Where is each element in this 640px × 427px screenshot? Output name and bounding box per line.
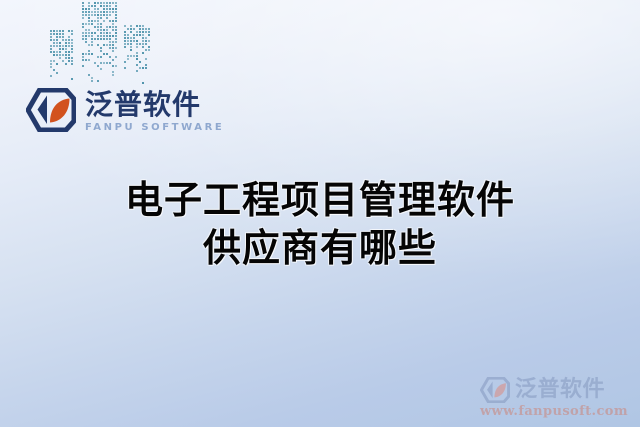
dot-matrix-skyline-icon [46, 0, 156, 86]
brand-logo: 泛普软件 FANPU SOFTWARE [26, 88, 224, 134]
watermark-url: www.fanpusoft.com [480, 404, 628, 419]
brand-name-en: FANPU SOFTWARE [85, 122, 224, 134]
brand-logo-text: 泛普软件 FANPU SOFTWARE [85, 88, 224, 134]
headline-line-1: 电子工程项目管理软件 [0, 176, 640, 224]
fanpu-logo-mark-icon [26, 88, 76, 132]
watermark-brand-row: 泛普软件 [480, 377, 628, 403]
fanpu-watermark-mark-icon [480, 377, 510, 403]
watermark: 泛普软件 www.fanpusoft.com [480, 377, 628, 419]
promo-banner: 泛普软件 FANPU SOFTWARE 电子工程项目管理软件 供应商有哪些 泛普… [0, 0, 640, 427]
watermark-brand-name: 泛普软件 [515, 378, 605, 402]
headline: 电子工程项目管理软件 供应商有哪些 [0, 176, 640, 272]
headline-line-2: 供应商有哪些 [0, 224, 640, 272]
brand-name-cn: 泛普软件 [85, 90, 224, 120]
